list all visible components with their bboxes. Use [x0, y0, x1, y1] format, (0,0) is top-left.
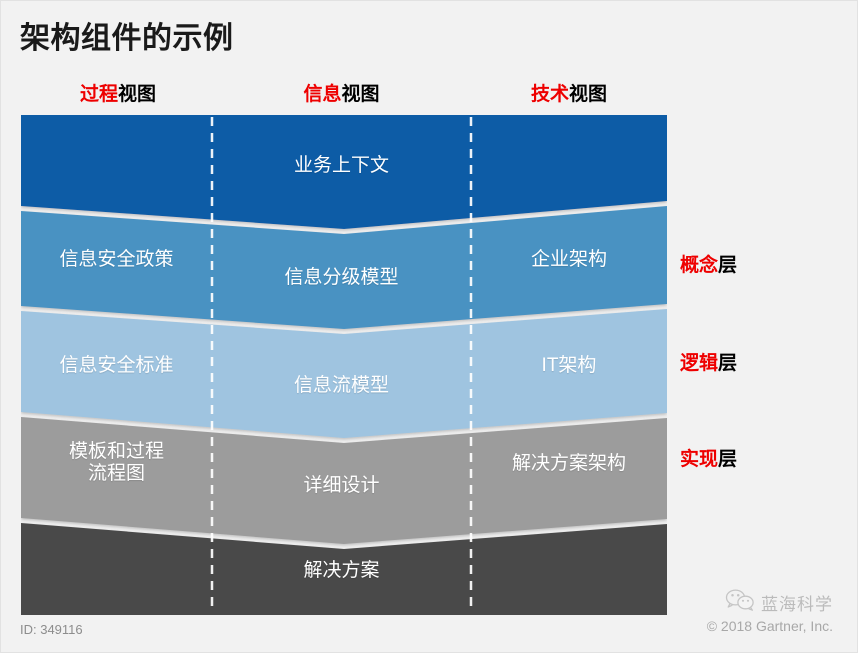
layered-architecture-diagram: 业务上下文 信息安全政策 信息分级模型 企业架构 信息安全标准 信息流模型 IT…: [21, 115, 667, 615]
slide-canvas: 架构组件的示例 过程视图 信息视图 技术视图: [0, 0, 858, 653]
layer-label-logical: 逻辑层: [680, 348, 737, 375]
layer-label-logical-rest: 层: [718, 353, 737, 374]
wechat-icon: [725, 589, 755, 616]
layer-label-logical-highlight: 逻辑: [680, 353, 718, 374]
layer-label-conceptual-highlight: 概念: [680, 255, 718, 276]
diagram-bands-svg: [21, 115, 667, 615]
column-header-information-highlight: 信息: [303, 84, 341, 105]
layer-label-implementation-highlight: 实现: [680, 449, 718, 470]
column-header-technology-rest: 视图: [569, 84, 607, 105]
layer-label-implementation: 实现层: [680, 444, 737, 471]
layer-label-implementation-rest: 层: [718, 449, 737, 470]
column-header-process-rest: 视图: [118, 84, 156, 105]
column-header-process: 过程视图: [23, 79, 213, 106]
layer-label-conceptual: 概念层: [680, 250, 737, 277]
brand-footer: 蓝海科学 © 2018 Gartner, Inc.: [663, 589, 833, 634]
column-header-process-highlight: 过程: [80, 84, 118, 105]
copyright-text: © 2018 Gartner, Inc.: [663, 618, 833, 634]
column-header-information: 信息视图: [212, 79, 471, 106]
band-shape-business-context: [21, 115, 667, 229]
column-header-technology: 技术视图: [471, 79, 667, 106]
column-header-information-rest: 视图: [342, 84, 380, 105]
layer-label-conceptual-rest: 层: [718, 255, 737, 276]
column-header-technology-highlight: 技术: [531, 84, 569, 105]
brand-name: 蓝海科学: [761, 590, 833, 615]
page-title: 架构组件的示例: [20, 13, 234, 57]
diagram-id-text: ID: 349116: [20, 622, 83, 637]
brand-row: 蓝海科学: [663, 589, 833, 616]
